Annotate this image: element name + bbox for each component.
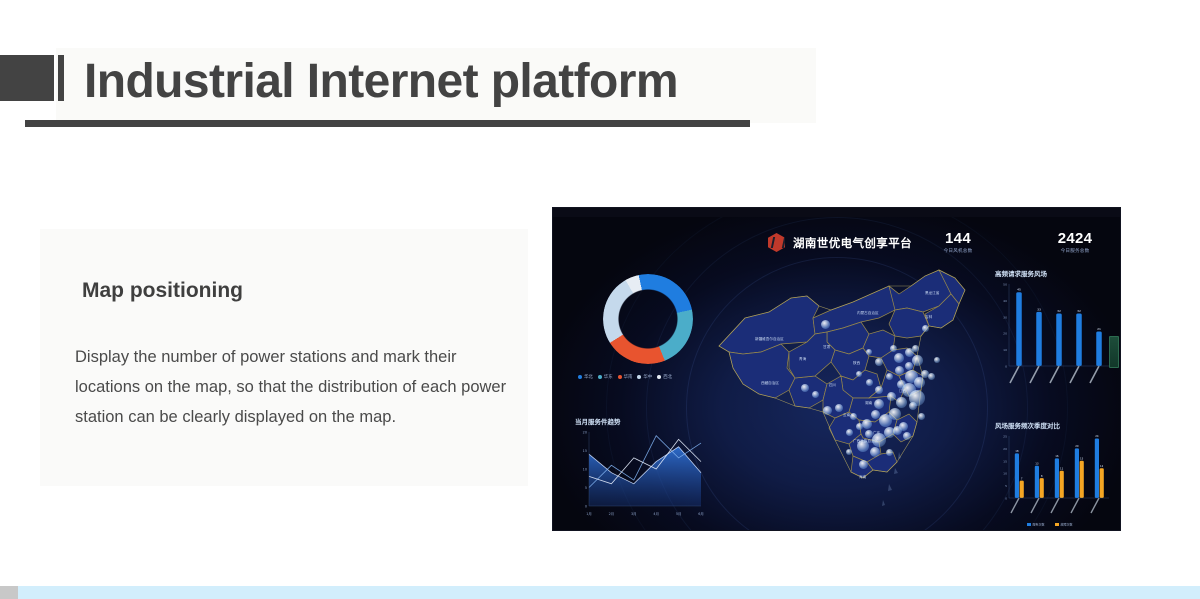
svg-text:12: 12 <box>1100 464 1104 468</box>
map-bubble-marker <box>857 440 869 452</box>
footer-strip <box>0 586 1200 599</box>
title-accent-square <box>0 55 54 101</box>
svg-text:5: 5 <box>1005 484 1007 488</box>
svg-text:20: 20 <box>1075 444 1079 448</box>
svg-text:青海: 青海 <box>799 356 807 361</box>
svg-text:21: 21 <box>1097 327 1101 331</box>
line-chart-title: 当月服务件趋势 <box>575 416 715 426</box>
china-map: 新疆维吾尔自治区 西藏自治区 青海 内蒙古自治区 黑龙江省 吉林 甘肃 陕西 四… <box>703 256 1003 524</box>
map-bubble-marker <box>896 397 907 408</box>
svg-text:20: 20 <box>1003 332 1007 336</box>
map-bubble-marker <box>850 413 857 420</box>
svg-text:15: 15 <box>1003 459 1007 463</box>
kpi-card: 2424 今日服务总数 <box>1033 230 1117 255</box>
legend-label: 华北 <box>584 374 593 380</box>
kpi-label: 今日风机总数 <box>916 247 1000 255</box>
china-map-panel: 新疆维吾尔自治区 西藏自治区 青海 内蒙古自治区 黑龙江省 吉林 甘肃 陕西 四… <box>703 256 1003 524</box>
map-bubble-marker <box>856 423 863 430</box>
map-bubble-marker <box>846 449 852 455</box>
svg-text:四川: 四川 <box>829 383 837 387</box>
legend-label: 华中 <box>643 374 652 380</box>
map-bubble-marker <box>865 430 873 438</box>
legend-swatch-icon <box>598 375 602 379</box>
svg-text:15: 15 <box>583 449 587 453</box>
line-chart-panel: 当月服务件趋势 051015201月2月3月4月5月6月 <box>575 416 715 524</box>
svg-text:20: 20 <box>583 431 587 435</box>
kpi-value: 144 <box>916 230 1000 247</box>
svg-text:10: 10 <box>1003 348 1007 352</box>
svg-text:45: 45 <box>1017 288 1021 292</box>
donut-legend: 华北 华东 华南 华中 西北 <box>578 374 672 380</box>
map-bubble-marker <box>894 353 904 363</box>
svg-text:16: 16 <box>1055 454 1059 458</box>
svg-text:故障次数: 故障次数 <box>1061 521 1073 526</box>
svg-text:25: 25 <box>1003 435 1007 439</box>
map-bubble-marker <box>870 447 880 457</box>
legend-label: 华东 <box>604 374 613 380</box>
donut-chart-panel: 华北 华东 华南 华中 西北 <box>575 270 720 398</box>
map-bubble-marker <box>823 406 832 415</box>
map-bubble-marker <box>897 380 906 389</box>
svg-text:吉林: 吉林 <box>925 314 933 319</box>
svg-text:20: 20 <box>1003 447 1007 451</box>
kpi-label: 今日服务总数 <box>1033 247 1117 255</box>
svg-text:内蒙古自治区: 内蒙古自治区 <box>857 310 879 315</box>
legend-label: 华南 <box>624 374 633 380</box>
legend-swatch-icon <box>618 375 622 379</box>
status-chip <box>1109 336 1119 368</box>
svg-text:10: 10 <box>1003 472 1007 476</box>
map-bubble-marker <box>866 349 872 355</box>
map-bubble-marker <box>886 449 893 456</box>
svg-text:11: 11 <box>1060 466 1064 470</box>
title-accent-bar <box>58 55 64 101</box>
title-underline <box>25 120 750 127</box>
map-bubble-marker <box>912 355 923 366</box>
hexagon-logo-icon <box>768 233 785 252</box>
map-bubble-marker <box>875 386 883 394</box>
map-bubble-marker <box>859 460 868 469</box>
map-bubble-marker <box>886 373 893 380</box>
svg-text:50: 50 <box>1003 283 1007 287</box>
svg-text:海南: 海南 <box>859 474 867 479</box>
svg-text:3月: 3月 <box>631 512 637 516</box>
map-bubble-marker <box>934 357 940 363</box>
map-bubble-marker <box>801 384 809 392</box>
svg-text:1月: 1月 <box>586 512 592 516</box>
svg-text:陕西: 陕西 <box>853 360 861 365</box>
map-bubble-marker <box>812 391 819 398</box>
dashboard-screenshot: 湖南世优电气创享平台 144 今日风机总数 2424 今日服务总数 15753 … <box>553 208 1120 530</box>
svg-text:40: 40 <box>1003 299 1007 303</box>
bar-chart: 010203040504533323221 <box>995 278 1113 396</box>
svg-text:10: 10 <box>583 468 587 472</box>
bar-chart-title: 高频请求服务风场 <box>995 268 1117 278</box>
svg-text:新疆维吾尔自治区: 新疆维吾尔自治区 <box>755 336 784 341</box>
svg-text:33: 33 <box>1037 307 1041 311</box>
dashboard-title: 湖南世优电气创享平台 <box>793 235 912 251</box>
line-chart: 051015201月2月3月4月5月6月 <box>575 426 705 518</box>
dashboard-top-bar <box>553 208 1120 217</box>
svg-text:15: 15 <box>1080 457 1084 461</box>
map-bubble-marker <box>909 402 917 410</box>
legend-item: 华北 <box>578 374 593 380</box>
footer-strip-tab <box>0 586 18 599</box>
kpi-value: 2424 <box>1033 230 1117 247</box>
map-bubble-marker <box>918 413 925 420</box>
svg-text:西藏自治区: 西藏自治区 <box>761 380 779 385</box>
svg-text:0: 0 <box>1005 497 1007 501</box>
svg-text:18: 18 <box>1015 449 1019 453</box>
map-bubble-marker <box>846 429 853 436</box>
svg-text:甘肃: 甘肃 <box>823 344 831 349</box>
map-bubble-marker <box>821 320 830 329</box>
svg-text:5月: 5月 <box>676 512 682 516</box>
map-bubble-marker <box>866 379 873 386</box>
svg-text:服务次数: 服务次数 <box>1033 521 1045 526</box>
slide-title-block: Industrial Internet platform <box>0 48 1200 134</box>
bar-chart-panel: 高频请求服务风场 010203040504533323221 <box>995 268 1117 400</box>
map-bubble-marker <box>835 404 843 412</box>
map-bubble-marker <box>895 366 904 375</box>
svg-text:0: 0 <box>585 505 587 509</box>
svg-text:5: 5 <box>585 486 587 490</box>
legend-item: 华中 <box>637 374 652 380</box>
map-bubble-marker <box>862 419 872 429</box>
svg-text:30: 30 <box>1003 315 1007 319</box>
legend-swatch-icon <box>657 375 661 379</box>
legend-swatch-icon <box>637 375 641 379</box>
svg-text:24: 24 <box>1095 434 1099 438</box>
legend-item: 华东 <box>598 374 613 380</box>
donut-chart <box>603 274 693 364</box>
legend-label: 西北 <box>663 374 672 380</box>
legend-item: 华南 <box>618 374 633 380</box>
svg-text:黑龙江省: 黑龙江省 <box>925 290 940 295</box>
map-bubble-marker <box>893 426 902 435</box>
map-bubble-marker <box>856 371 862 377</box>
map-bubble-marker <box>879 414 892 427</box>
svg-text:湖南: 湖南 <box>865 400 873 405</box>
kpi-card: 144 今日风机总数 <box>916 230 1000 255</box>
map-bubble-marker <box>871 410 880 419</box>
svg-text:13: 13 <box>1035 461 1039 465</box>
grouped-bar-chart-title: 风场服务频次季度对比 <box>995 420 1117 430</box>
map-bubble-marker <box>872 433 886 447</box>
map-bubble-marker <box>890 345 897 352</box>
map-bubble-marker <box>875 358 883 366</box>
map-bubble-marker <box>887 392 896 401</box>
info-card: Map positioning Display the number of po… <box>40 229 528 486</box>
map-bubble-marker <box>874 399 884 409</box>
svg-text:4月: 4月 <box>653 512 659 516</box>
page-title: Industrial Internet platform <box>84 42 678 122</box>
svg-text:32: 32 <box>1077 309 1081 313</box>
grouped-bar-chart-panel: 风场服务频次季度对比 0510152025187138161120152412服… <box>995 420 1117 530</box>
svg-text:0: 0 <box>1005 365 1007 369</box>
map-bubble-marker <box>905 362 913 370</box>
map-bubble-marker <box>922 325 929 332</box>
svg-text:32: 32 <box>1057 309 1061 313</box>
svg-text:8: 8 <box>1041 474 1043 478</box>
grouped-bar-chart: 0510152025187138161120152412服务次数故障次数 <box>995 430 1113 528</box>
svg-text:7: 7 <box>1021 476 1023 480</box>
map-bubble-marker <box>903 432 911 440</box>
legend-swatch-icon <box>578 375 582 379</box>
legend-item: 西北 <box>657 374 672 380</box>
info-card-body: Display the number of power stations and… <box>75 342 515 432</box>
map-bubble-marker <box>912 345 919 352</box>
map-bubble-marker <box>928 373 935 380</box>
svg-text:2月: 2月 <box>609 512 615 516</box>
info-card-heading: Map positioning <box>82 279 243 303</box>
